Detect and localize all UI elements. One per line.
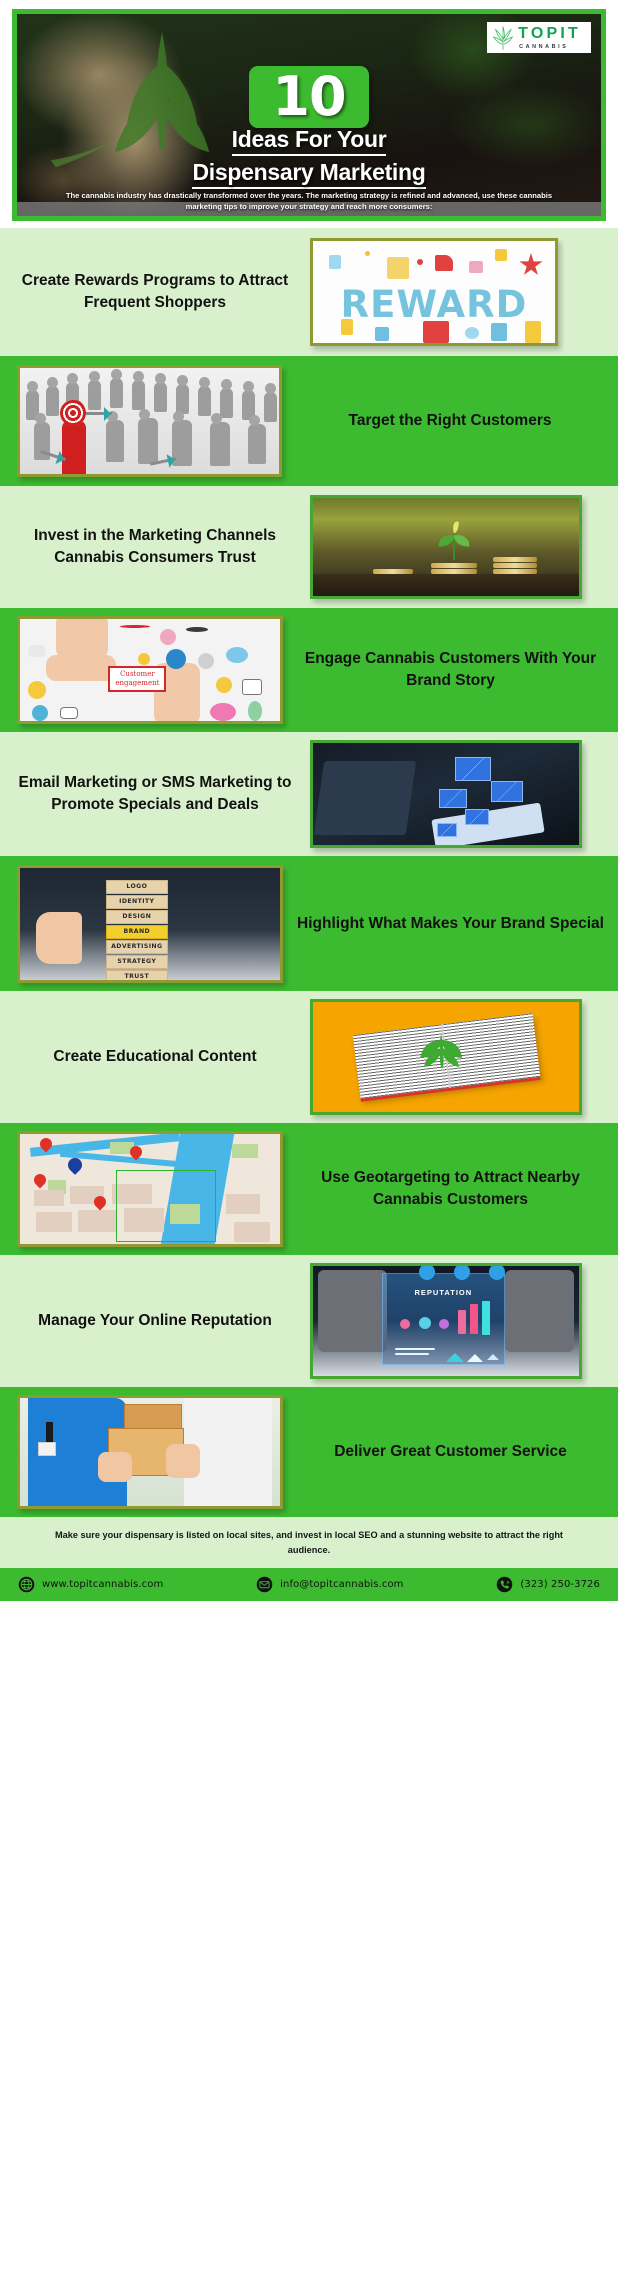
envelope-icon xyxy=(439,789,467,808)
block-design: DESIGN xyxy=(106,910,168,924)
item-text: Target the Right Customers xyxy=(282,410,618,432)
reward-illustration: REWARD xyxy=(310,238,558,346)
package-delivery-photo xyxy=(17,1395,283,1509)
block-brand: BRAND xyxy=(106,925,168,939)
item-text: Create Educational Content xyxy=(0,1046,310,1068)
map-park xyxy=(232,1144,258,1158)
brand-blocks-photo: LOGO IDENTITY DESIGN BRAND ADVERTISING S… xyxy=(17,865,283,983)
item-media xyxy=(0,1395,283,1509)
target-crowd-photo xyxy=(17,365,282,477)
envelope-icon xyxy=(256,1576,273,1593)
contact-phone-label: (323) 250-3726 xyxy=(520,1579,600,1590)
sleeve-right xyxy=(505,1270,574,1351)
cannabis-leaf-icon xyxy=(419,1028,463,1068)
map-pin-primary-icon xyxy=(68,1158,80,1174)
list-item: Invest in the Marketing Channels Cannabi… xyxy=(0,486,618,608)
contact-email-label: info@topitcannabis.com xyxy=(280,1579,403,1590)
block-identity: IDENTITY xyxy=(106,895,168,909)
envelope-icon xyxy=(465,809,489,825)
number-badge: 10 xyxy=(249,66,369,128)
item-text: Deliver Great Customer Service xyxy=(283,1441,618,1463)
map-river xyxy=(30,1132,180,1157)
list-item: LOGO IDENTITY DESIGN BRAND ADVERTISING S… xyxy=(0,856,618,991)
item-text: Engage Cannabis Customers With Your Bran… xyxy=(283,648,618,692)
list-item: Target the Right Customers xyxy=(0,356,618,486)
envelope-icon xyxy=(491,781,523,802)
dart-icon xyxy=(86,412,112,415)
geofence-rectangle xyxy=(116,1170,216,1242)
sprout-icon xyxy=(435,520,473,560)
item-media: REPUTATION xyxy=(310,1263,582,1379)
item-media: REWARD xyxy=(310,238,558,346)
map-pin-icon xyxy=(94,1196,106,1212)
list-item: Create Educational Content xyxy=(0,991,618,1123)
customer-engagement-photo: Customer engagement xyxy=(17,616,283,724)
map-with-location-pins-photo xyxy=(17,1131,283,1247)
map-pin-icon xyxy=(34,1174,46,1190)
item-text: Manage Your Online Reputation xyxy=(0,1310,310,1332)
page-title-line-2: Dispensary Marketing xyxy=(192,159,425,189)
envelope-icon xyxy=(455,757,491,781)
block-trust: TRUST xyxy=(106,970,168,983)
logo-wordmark: TOPIT xyxy=(518,26,581,42)
email-envelopes-photo xyxy=(310,740,582,848)
laptop-shape xyxy=(314,761,416,835)
list-item: Use Geotargeting to Attract Nearby Canna… xyxy=(0,1123,618,1255)
engagement-card-text: Customer engagement xyxy=(110,668,164,688)
item-text: Invest in the Marketing Channels Cannabi… xyxy=(0,525,310,569)
hand-shape xyxy=(98,1452,132,1482)
item-text: Email Marketing or SMS Marketing to Prom… xyxy=(0,772,310,816)
cannabis-leaf-icon xyxy=(493,26,513,50)
block-logo: LOGO xyxy=(106,880,168,894)
page-title-line-1: Ideas For Your xyxy=(232,126,387,156)
icon-bubble xyxy=(454,1264,470,1280)
package-box xyxy=(124,1404,182,1430)
phone-icon xyxy=(496,1576,513,1593)
hand-shape xyxy=(56,616,108,659)
list-item: Email Marketing or SMS Marketing to Prom… xyxy=(0,732,618,856)
reputation-label: REPUTATION xyxy=(383,1288,503,1297)
item-text: Use Geotargeting to Attract Nearby Canna… xyxy=(283,1167,618,1211)
list-item: Deliver Great Customer Service xyxy=(0,1387,618,1517)
item-text: Highlight What Makes Your Brand Special xyxy=(283,913,618,935)
item-media: LOGO IDENTITY DESIGN BRAND ADVERTISING S… xyxy=(0,865,283,983)
footer-note: Make sure your dispensary is listed on l… xyxy=(0,1517,618,1568)
item-media xyxy=(310,999,582,1115)
reward-word: REWARD xyxy=(313,283,555,326)
infographic-page: TOPIT CANNABIS 10 Ideas For Your Dispens… xyxy=(0,0,618,2289)
reputation-dashboard-photo: REPUTATION xyxy=(310,1263,582,1379)
page-title: Ideas For Your Dispensary Marketing xyxy=(17,126,601,189)
contact-phone[interactable]: (323) 250-3726 xyxy=(496,1576,600,1593)
book-with-cannabis-leaf-photo xyxy=(310,999,582,1115)
logo-tagline: CANNABIS xyxy=(519,45,581,50)
lanyard xyxy=(46,1422,53,1444)
hand-shape xyxy=(166,1444,200,1478)
map-pin-icon xyxy=(40,1138,52,1154)
contact-bar: www.topitcannabis.com info@topitcannabis… xyxy=(0,1568,618,1601)
contact-website[interactable]: www.topitcannabis.com xyxy=(18,1576,163,1593)
number-badge-value: 10 xyxy=(272,70,345,124)
block-strategy: STRATEGY xyxy=(106,955,168,969)
holographic-panel: REPUTATION xyxy=(382,1273,504,1365)
id-badge xyxy=(38,1442,56,1456)
brand-logo[interactable]: TOPIT CANNABIS xyxy=(487,22,591,53)
item-media xyxy=(310,740,582,848)
block-advertising: ADVERTISING xyxy=(106,940,168,954)
soil-layer xyxy=(313,574,579,596)
icon-bubble xyxy=(489,1264,505,1280)
hand-shape xyxy=(46,655,116,681)
list-item: Manage Your Online Reputation REPUTATION xyxy=(0,1255,618,1387)
engagement-card: Customer engagement xyxy=(108,666,166,692)
hero-header: TOPIT CANNABIS 10 Ideas For Your Dispens… xyxy=(12,9,606,221)
hero-image-area: TOPIT CANNABIS 10 Ideas For Your Dispens… xyxy=(17,14,601,216)
contact-website-label: www.topitcannabis.com xyxy=(42,1579,163,1590)
globe-icon xyxy=(18,1576,35,1593)
contact-email[interactable]: info@topitcannabis.com xyxy=(256,1576,403,1593)
list-item: Create Rewards Programs to Attract Frequ… xyxy=(0,228,618,356)
list-item: Customer engagement xyxy=(0,608,618,732)
item-text: Create Rewards Programs to Attract Frequ… xyxy=(0,270,310,314)
hand-shape xyxy=(36,912,82,964)
item-media xyxy=(0,1131,283,1247)
bullseye-icon xyxy=(60,400,86,426)
page-subtitle: The cannabis industry has drastically tr… xyxy=(55,190,563,213)
map-pin-icon xyxy=(130,1146,142,1162)
item-media xyxy=(0,365,282,477)
item-media: Customer engagement xyxy=(0,616,283,724)
sleeve-left xyxy=(318,1270,387,1351)
envelope-icon xyxy=(437,823,457,837)
seedling-on-coins-photo xyxy=(310,495,582,599)
item-media xyxy=(310,495,582,599)
